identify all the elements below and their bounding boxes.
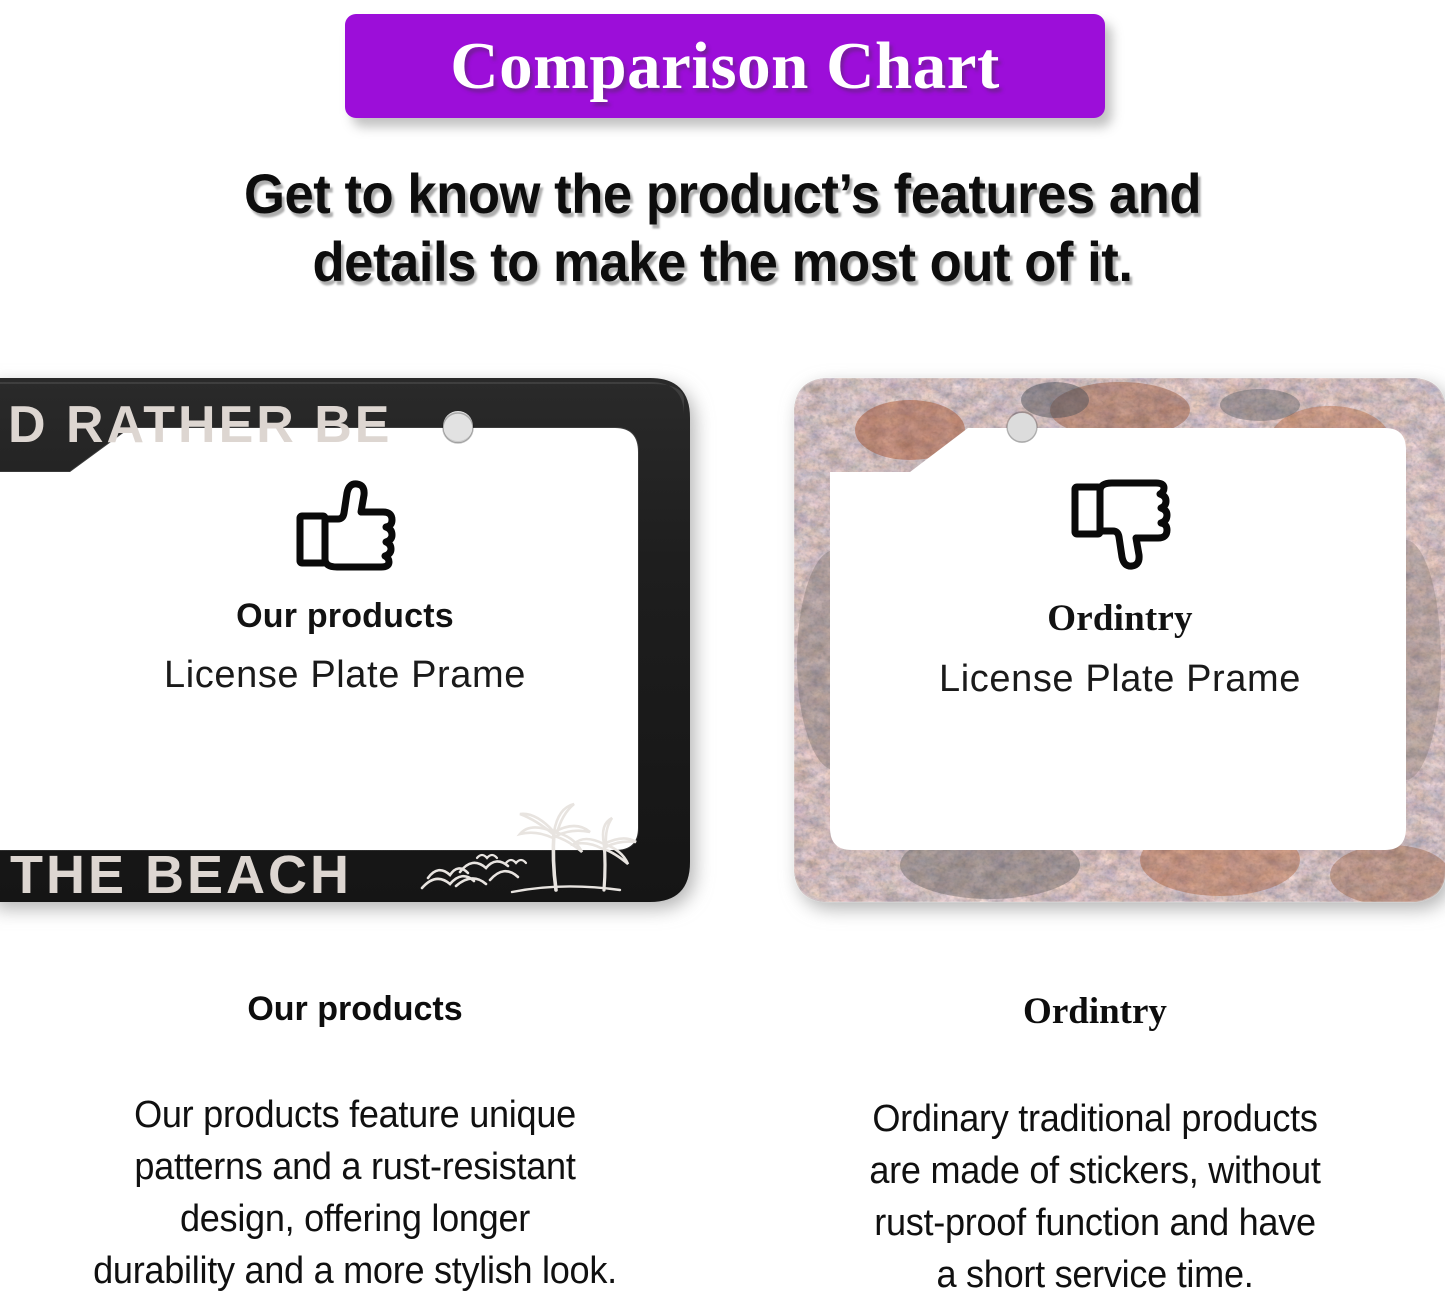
- rusty-frame-graphic: [790, 360, 1445, 920]
- svg-text:THE BEACH: THE BEACH: [10, 845, 352, 905]
- comparison-chart-page: Comparison Chart Get to know the product…: [0, 0, 1445, 1314]
- ordinary-desc-line-4: a short service time.: [791, 1249, 1399, 1301]
- our-description-title: Our products: [35, 990, 675, 1029]
- ordinary-description-title: Ordintry: [775, 990, 1415, 1033]
- our-description-body: Our products feature unique patterns and…: [35, 1089, 675, 1297]
- black-frame-graphic: D RATHER BE THE BEACH: [0, 360, 700, 920]
- our-desc-line-1: Our products feature unique: [51, 1089, 659, 1141]
- ordinary-description-body: Ordinary traditional products are made o…: [775, 1093, 1415, 1301]
- subtitle-line-2: details to make the most out of it.: [43, 228, 1401, 296]
- subtitle: Get to know the product’s features and d…: [0, 160, 1445, 296]
- frame-bottom-text: THE BEACH: [10, 845, 352, 905]
- title-banner: Comparison Chart: [345, 14, 1105, 118]
- ordinary-desc-line-1: Ordinary traditional products: [791, 1093, 1399, 1145]
- our-desc-line-4: durability and a more stylish look.: [51, 1245, 659, 1297]
- subtitle-line-1: Get to know the product’s features and: [43, 160, 1401, 228]
- frame-top-text: D RATHER BE: [8, 396, 392, 454]
- ordinary-desc-line-3: rust-proof function and have: [791, 1197, 1399, 1249]
- ordinary-desc-line-2: are made of stickers, without: [791, 1145, 1399, 1197]
- ordinary-product-frame-block: Ordintry License Plate Prame: [790, 360, 1445, 920]
- our-desc-line-3: design, offering longer: [51, 1193, 659, 1245]
- page-title: Comparison Chart: [450, 28, 1000, 105]
- svg-text:D RATHER BE: D RATHER BE: [8, 396, 392, 454]
- black-license-plate-frame: D RATHER BE THE BEACH: [0, 360, 700, 920]
- rusty-license-plate-frame: Ordintry License Plate Prame: [790, 360, 1445, 920]
- our-product-description-column: Our products Our products feature unique…: [35, 990, 675, 1297]
- ordinary-description-column: Ordintry Ordinary traditional products a…: [775, 990, 1415, 1301]
- our-product-frame-block: D RATHER BE THE BEACH: [0, 360, 700, 920]
- our-desc-line-2: patterns and a rust-resistant: [51, 1141, 659, 1193]
